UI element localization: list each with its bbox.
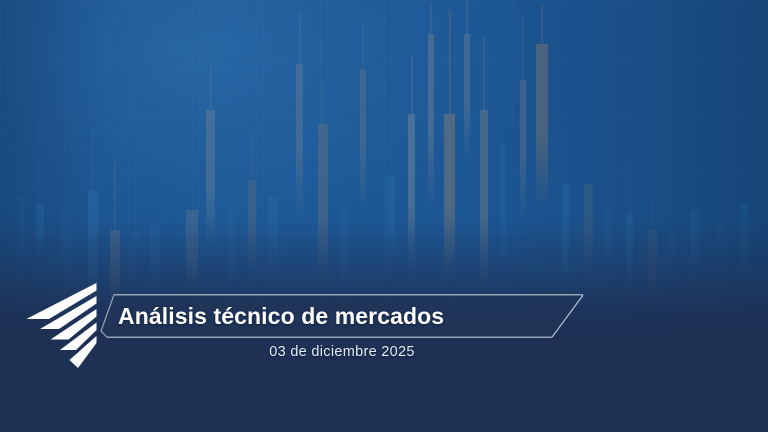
slide-root: Análisis técnico de mercados 03 de dicie… (0, 0, 768, 432)
arrow-dart-logo-icon (27, 283, 97, 368)
title-plate: Análisis técnico de mercados (100, 294, 584, 338)
brand-logo (18, 280, 110, 372)
header: Análisis técnico de mercados 03 de dicie… (0, 272, 768, 382)
page-subtitle-date: 03 de diciembre 2025 (100, 344, 584, 360)
page-title: Análisis técnico de mercados (118, 294, 444, 338)
